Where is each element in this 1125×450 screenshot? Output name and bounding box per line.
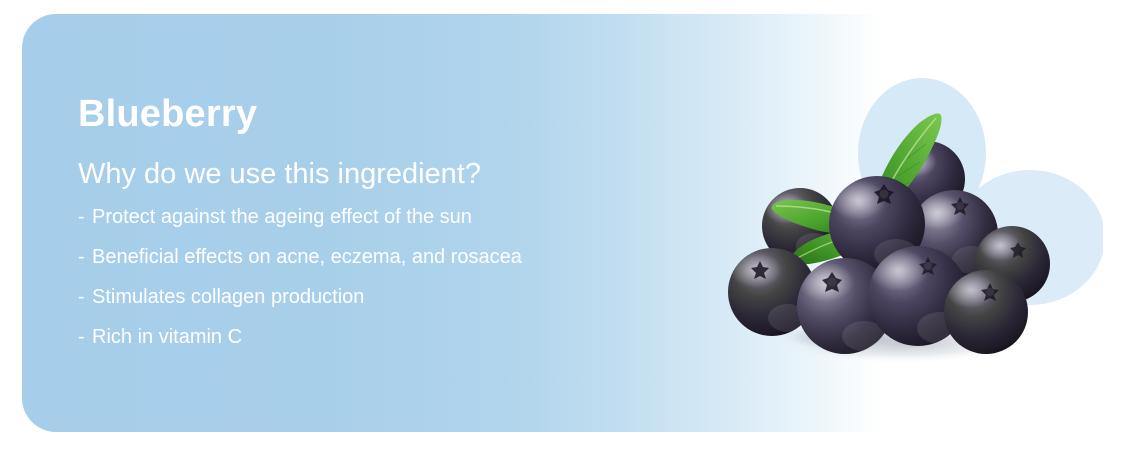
bullet-dash-icon: - [78, 247, 92, 267]
bullet-dash-icon: - [78, 327, 92, 347]
list-item: - Rich in vitamin C [78, 327, 698, 347]
ingredient-card: Blueberry Why do we use this ingredient?… [22, 14, 1103, 432]
text-content: Blueberry Why do we use this ingredient?… [78, 94, 698, 347]
benefit-list: - Protect against the ageing effect of t… [78, 207, 698, 347]
bullet-dash-icon: - [78, 287, 92, 307]
list-item-label: Stimulates collagen production [92, 287, 364, 307]
page-title: Blueberry [78, 94, 698, 136]
list-item: - Beneficial effects on acne, eczema, an… [78, 247, 698, 267]
ingredient-banner: Blueberry Why do we use this ingredient?… [0, 0, 1125, 450]
subtitle: Why do we use this ingredient? [78, 158, 698, 191]
list-item: - Protect against the ageing effect of t… [78, 207, 698, 227]
list-item: - Stimulates collagen production [78, 287, 698, 307]
blueberry-photo [722, 74, 1082, 374]
list-item-label: Protect against the ageing effect of the… [92, 207, 472, 227]
list-item-label: Rich in vitamin C [92, 327, 242, 347]
list-item-label: Beneficial effects on acne, eczema, and … [92, 247, 522, 267]
bullet-dash-icon: - [78, 207, 92, 227]
